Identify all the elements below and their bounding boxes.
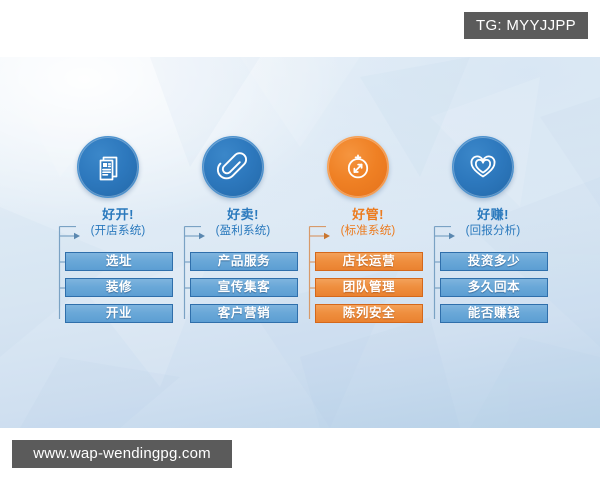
site-watermark: www.wap-wendingpg.com (12, 440, 232, 468)
tg-badge: TG: MYYJJPP (464, 12, 588, 39)
item-button[interactable]: 宣传集客 (190, 278, 298, 297)
item-button[interactable]: 店长运营 (315, 252, 423, 271)
item-button[interactable]: 装修 (65, 278, 173, 297)
pillar-title-4: 好赚! (418, 207, 568, 223)
heart-icon-circle[interactable] (452, 136, 514, 198)
documents-icon (92, 151, 124, 183)
item-button[interactable]: 投资多少 (440, 252, 548, 271)
slide-canvas: 好开! (开店系统) 选址 装修 开业 (0, 57, 600, 428)
item-button[interactable]: 选址 (65, 252, 173, 271)
pillar-column-4: 好赚! (回报分析) 投资多少 多久回本 能否赚钱 (418, 57, 568, 428)
pillar-items-3: 店长运营 团队管理 陈列安全 (315, 252, 423, 330)
item-button[interactable]: 产品服务 (190, 252, 298, 271)
compass-icon-circle[interactable] (327, 136, 389, 198)
item-button[interactable]: 客户营销 (190, 304, 298, 323)
item-button[interactable]: 团队管理 (315, 278, 423, 297)
paperclip-icon-circle[interactable] (202, 136, 264, 198)
item-button[interactable]: 陈列安全 (315, 304, 423, 323)
heart-icon (466, 150, 500, 184)
item-button[interactable]: 多久回本 (440, 278, 548, 297)
documents-icon-circle[interactable] (77, 136, 139, 198)
item-button[interactable]: 能否赚钱 (440, 304, 548, 323)
pillar-items-4: 投资多少 多久回本 能否赚钱 (440, 252, 548, 330)
compass-icon (341, 150, 375, 184)
pillar-subtitle-4: (回报分析) (418, 224, 568, 238)
pillar-items-1: 选址 装修 开业 (65, 252, 173, 330)
pillar-heading-4: 好赚! (回报分析) (418, 207, 568, 239)
paperclip-icon (216, 150, 250, 184)
pillar-items-2: 产品服务 宣传集客 客户营销 (190, 252, 298, 330)
item-button[interactable]: 开业 (65, 304, 173, 323)
